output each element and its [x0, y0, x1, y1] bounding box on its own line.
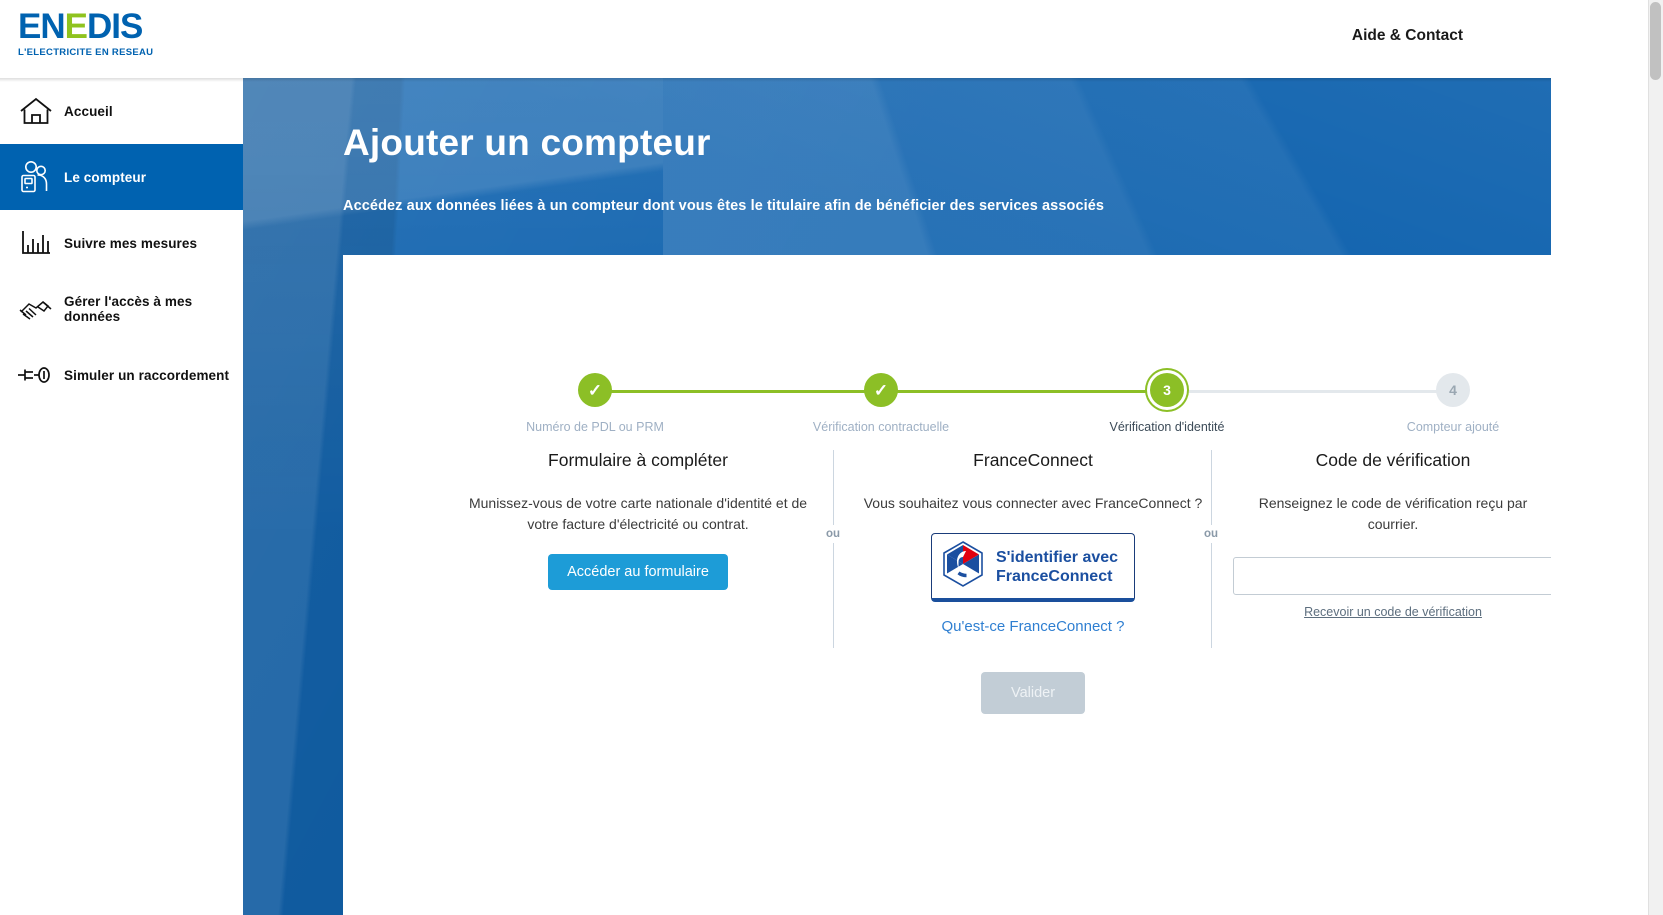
sidebar-item-label: Le compteur [64, 170, 146, 185]
main-content: Ajouter un compteur Accédez aux données … [243, 78, 1551, 915]
meter-person-icon [8, 160, 64, 194]
step-bubble: ✓ [578, 373, 612, 407]
step-check-icon: ✓ [874, 382, 888, 399]
franceconnect-logo-icon [942, 541, 984, 592]
page-title: Ajouter un compteur [343, 122, 711, 164]
franceconnect-login-button[interactable]: S'identifier avec FranceConnect [931, 533, 1135, 602]
step-number: 3 [1163, 382, 1171, 398]
option-title: FranceConnect [853, 450, 1213, 471]
sidebar-item-gerer-acces-donnees[interactable]: Gérer l'accès à mes données [0, 276, 243, 342]
bar-chart-icon [8, 228, 64, 258]
step-bubble: 4 [1436, 373, 1470, 407]
sidebar-item-accueil[interactable]: Accueil [0, 78, 243, 144]
column-divider-2 [1211, 450, 1212, 648]
sidebar-item-label: Gérer l'accès à mes données [64, 294, 243, 324]
or-separator-2: ou [1200, 525, 1222, 543]
sidebar-item-simuler-raccordement[interactable]: Simuler un raccordement [0, 342, 243, 408]
step-bubble: 3 [1150, 373, 1184, 407]
option-title: Formulaire à compléter [453, 450, 823, 471]
help-and-contact-link[interactable]: Aide & Contact [1352, 27, 1463, 45]
column-divider-1 [833, 450, 834, 648]
logo-text-part3: DIS [87, 7, 142, 46]
option-description: Renseignez le code de vérification reçu … [1233, 493, 1551, 535]
option-form-column: Formulaire à compléter Munissez-vous de … [453, 450, 823, 590]
logo-text-green: E [65, 7, 87, 46]
option-code-column: Code de vérification Renseignez le code … [1233, 450, 1551, 619]
step-number: 4 [1449, 382, 1457, 398]
header-shadow [0, 78, 1551, 82]
header-right-filler [1551, 0, 1648, 78]
page-subtitle: Accédez aux données liées à un compteur … [343, 198, 1104, 214]
step-label: Vérification d'identité [1110, 420, 1225, 434]
sidebar-item-label: Suivre mes mesures [64, 236, 197, 251]
logo-tagline: L'ELECTRICITE EN RESEAU [18, 47, 168, 58]
step-label: Compteur ajouté [1407, 420, 1499, 434]
step-check-icon: ✓ [588, 382, 602, 399]
page-root: ENEDIS L'ELECTRICITE EN RESEAU Aide & Co… [0, 0, 1663, 915]
enedis-logo[interactable]: ENEDIS L'ELECTRICITE EN RESEAU [18, 9, 168, 58]
step-label: Numéro de PDL ou PRM [526, 420, 664, 434]
sidebar-item-label: Simuler un raccordement [64, 368, 229, 383]
receive-code-link[interactable]: Recevoir un code de vérification [1233, 605, 1551, 619]
step-connector-2-3 [881, 390, 1167, 393]
option-franceconnect-column: FranceConnect Vous souhaitez vous connec… [853, 450, 1213, 714]
handshake-icon [8, 294, 64, 324]
stepper: ✓ Numéro de PDL ou PRM ✓ Vérification co… [343, 313, 1551, 413]
or-separator-1: ou [822, 525, 844, 543]
franceconnect-button-text: S'identifier avec FranceConnect [996, 548, 1118, 586]
step-connector-3-4 [1167, 390, 1453, 393]
identity-options: Formulaire à compléter Munissez-vous de … [343, 450, 1551, 750]
content-card: ✓ Numéro de PDL ou PRM ✓ Vérification co… [343, 255, 1551, 915]
sidebar-item-le-compteur[interactable]: Le compteur [0, 144, 243, 210]
franceconnect-button-line1: S'identifier avec [996, 549, 1118, 566]
sidebar-item-suivre-mes-mesures[interactable]: Suivre mes mesures [0, 210, 243, 276]
sidebar-item-label: Accueil [64, 104, 113, 119]
plug-icon [8, 363, 64, 387]
step-bubble: ✓ [864, 373, 898, 407]
option-description: Vous souhaitez vous connecter avec Franc… [853, 493, 1213, 514]
top-header: ENEDIS L'ELECTRICITE EN RESEAU Aide & Co… [0, 0, 1551, 78]
sidebar-nav: Accueil Le compteur [0, 78, 243, 915]
step-label: Vérification contractuelle [813, 420, 949, 434]
page-scrollbar-thumb[interactable] [1650, 2, 1661, 80]
logo-text-part1: EN [18, 7, 65, 46]
what-is-franceconnect-link[interactable]: Qu'est-ce FranceConnect ? [853, 618, 1213, 635]
step-connector-1-2 [595, 390, 881, 393]
option-title: Code de vérification [1233, 450, 1551, 471]
franceconnect-button-line2: FranceConnect [996, 568, 1112, 585]
home-icon [8, 95, 64, 127]
validate-button[interactable]: Valider [981, 672, 1085, 714]
option-description: Munissez-vous de votre carte nationale d… [453, 493, 823, 535]
verification-code-input[interactable] [1233, 557, 1551, 595]
access-form-button[interactable]: Accéder au formulaire [548, 554, 728, 590]
logo-wordmark: ENEDIS [18, 9, 168, 45]
page-scrollbar-track[interactable] [1648, 0, 1663, 915]
hero-banner: Ajouter un compteur Accédez aux données … [243, 78, 1551, 915]
